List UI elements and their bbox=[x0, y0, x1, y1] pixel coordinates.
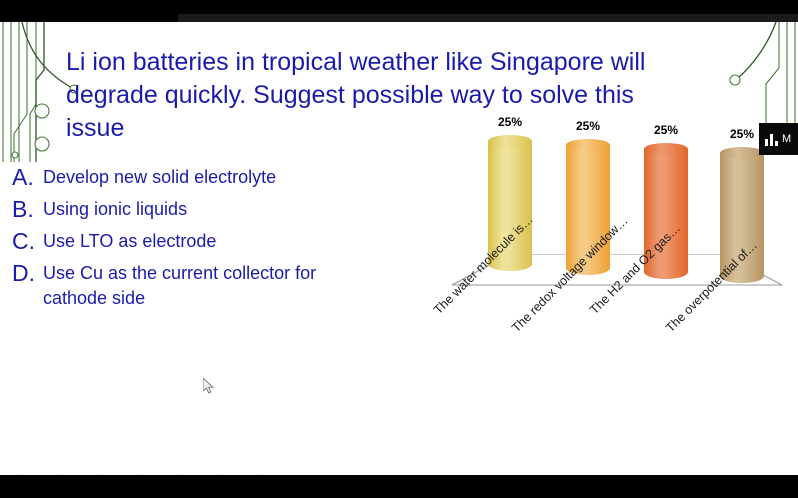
bar-cylinder-top bbox=[644, 143, 688, 155]
bar-value-label-2: 25% bbox=[566, 119, 610, 133]
slide-canvas: Li ion batteries in tropical weather lik… bbox=[0, 22, 798, 475]
answer-text-b: Using ionic liquids bbox=[43, 197, 187, 222]
bar-chart-icon bbox=[765, 133, 778, 146]
bar-cylinder-top bbox=[720, 147, 764, 159]
chart-category-labels: The water molecule is…The redox voltage … bbox=[430, 285, 798, 415]
mouse-pointer-icon bbox=[203, 378, 217, 396]
mentimeter-widget[interactable]: M bbox=[759, 123, 798, 155]
answer-option-d: D. Use Cu as the current collector for c… bbox=[12, 261, 412, 311]
mentimeter-label: M bbox=[782, 133, 791, 145]
answer-option-b: B. Using ionic liquids bbox=[12, 197, 412, 222]
title-line-1: Li ion batteries in tropical weather lik… bbox=[66, 46, 726, 79]
top-notch-bar bbox=[178, 14, 798, 22]
answer-key-c: C. bbox=[12, 229, 43, 254]
answer-text-d: Use Cu as the current collector for cath… bbox=[43, 261, 363, 311]
title-line-2: degrade quickly. Suggest possible way to… bbox=[66, 79, 726, 112]
top-letterbox-bar bbox=[0, 0, 798, 14]
bar-value-label-3: 25% bbox=[644, 123, 688, 137]
bar-value-label-4: 25% bbox=[720, 127, 764, 141]
answer-text-a: Develop new solid electrolyte bbox=[43, 165, 276, 190]
answer-option-c: C. Use LTO as electrode bbox=[12, 229, 412, 254]
bottom-letterbox-bar bbox=[0, 475, 798, 498]
answer-key-d: D. bbox=[12, 261, 43, 286]
bar-cylinder-top bbox=[488, 135, 532, 147]
answer-key-a: A. bbox=[12, 165, 43, 190]
presentation-window: Li ion batteries in tropical weather lik… bbox=[0, 0, 798, 498]
answer-text-c: Use LTO as electrode bbox=[43, 229, 216, 254]
answer-options-list: A. Develop new solid electrolyte B. Usin… bbox=[12, 165, 412, 318]
bar-value-label-1: 25% bbox=[488, 115, 532, 129]
answer-option-a: A. Develop new solid electrolyte bbox=[12, 165, 412, 190]
bar-cylinder-top bbox=[566, 139, 610, 151]
answer-key-b: B. bbox=[12, 197, 43, 222]
poll-results-chart: 25%25%25%25% The water molecule is…The r… bbox=[430, 117, 798, 417]
